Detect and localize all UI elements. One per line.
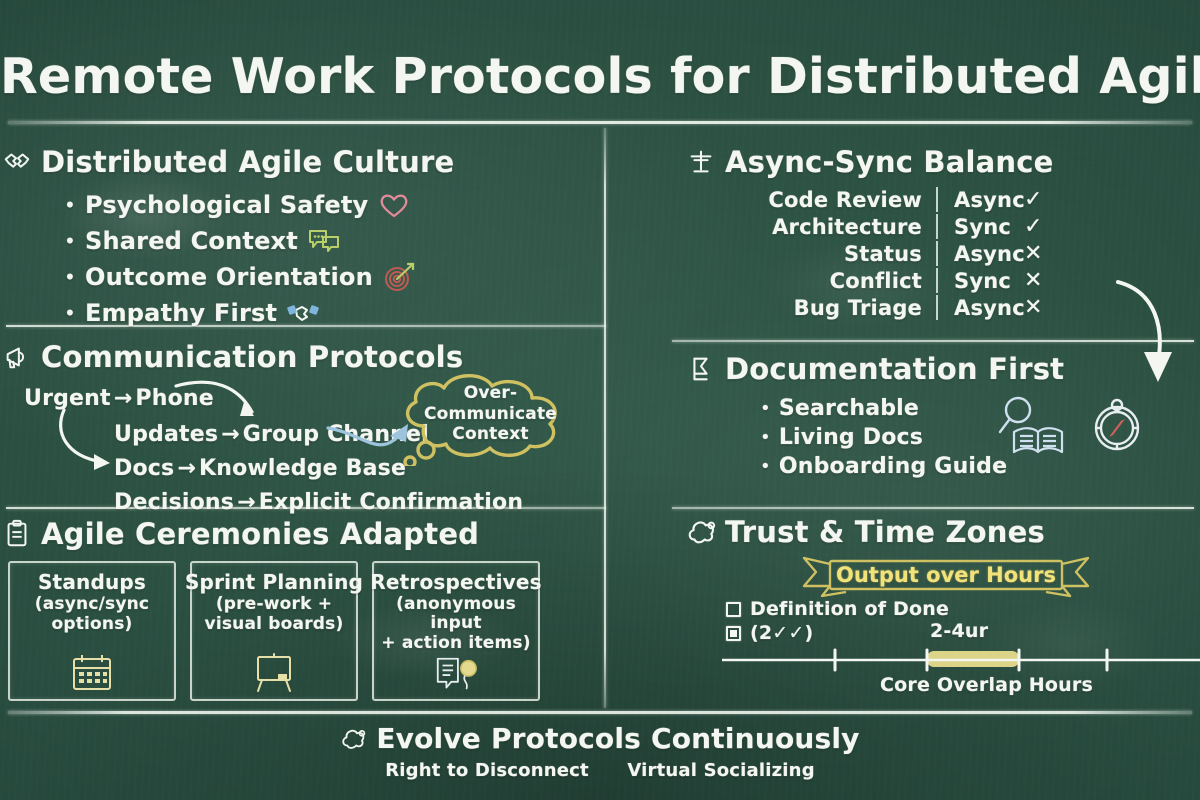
divider-vertical <box>604 128 606 708</box>
bullet-dot: • <box>64 231 76 251</box>
checklist-label: Definition of Done <box>750 598 949 620</box>
row-mode: Sync <box>938 269 1024 293</box>
curved-arrow-icon <box>52 406 132 478</box>
cloud-line-1: Over-Communicate <box>398 383 583 424</box>
documentation-icon-group <box>996 392 1148 458</box>
row-task: Code Review <box>686 188 936 212</box>
bullet-dot: • <box>760 427 771 448</box>
balance-scale-icon <box>686 147 716 177</box>
list-item: • Onboarding Guide <box>760 454 1007 479</box>
row-mode: Async <box>938 296 1024 320</box>
list-item-label: Onboarding Guide <box>779 454 1007 479</box>
magnifier-book-icon <box>996 392 1072 458</box>
footer-title: Evolve Protocols Continuously <box>376 722 859 755</box>
card-title: Sprint Planning <box>185 572 363 594</box>
list-item-label: Shared Context <box>85 227 298 255</box>
document-fold-icon <box>686 354 716 384</box>
whiteboard-easel-icon <box>250 651 298 693</box>
row-task: Status <box>686 242 936 266</box>
page-title: Remote Work Protocols for Distributed Ag… <box>0 48 1200 105</box>
arrow-glyph: → <box>174 456 199 481</box>
target-icon <box>382 262 416 292</box>
footer-item: Virtual Socializing <box>627 760 814 781</box>
thought-cloud-text: Over-Communicate Context <box>398 383 583 445</box>
row-task: Conflict <box>686 269 936 293</box>
list-item-label: Psychological Safety <box>85 191 368 219</box>
divider-right-lower <box>672 507 1194 509</box>
section-documentation-first: Documentation First <box>686 352 1064 386</box>
footer-headline: Evolve Protocols Continuously <box>0 722 1200 755</box>
list-item: • Searchable <box>760 396 1007 421</box>
table-row: Bug Triage Async ✕ <box>686 294 1146 321</box>
divider-footer <box>8 711 1192 714</box>
row-mode: Async <box>938 242 1024 266</box>
row-task: Architecture <box>686 215 936 239</box>
row-task: Bug Triage <box>686 296 936 320</box>
cloud-icon <box>686 517 716 547</box>
card-title: Retrospectives <box>370 572 542 594</box>
row-mark: ✓ <box>1024 187 1043 212</box>
card-subtitle-line-2: visual boards) <box>205 615 344 634</box>
card-subtitle-line-1: (async/sync <box>35 595 149 614</box>
divider-title <box>8 121 1192 124</box>
curved-arrow-down-icon <box>1108 276 1188 396</box>
row-mode: Sync <box>938 215 1024 239</box>
row-mark: ✕ <box>1024 295 1043 320</box>
arrow-glyph: → <box>234 490 259 515</box>
checkbox-checked[interactable] <box>726 626 741 641</box>
section-async-sync-balance: Async-Sync Balance <box>686 145 1054 179</box>
ceremony-card-sprint-planning[interactable]: Sprint Planning (pre-work + visual board… <box>190 561 358 701</box>
bullet-dot: • <box>64 195 76 215</box>
card-title: Standups <box>38 572 146 594</box>
checklist-item[interactable]: Definition of Done <box>726 598 949 620</box>
card-subtitle-line-2: + action items) <box>381 634 530 653</box>
ceremony-card-retrospectives[interactable]: Retrospectives (anonymous input + action… <box>372 561 540 701</box>
section-heading: Agile Ceremonies Adapted <box>41 517 479 551</box>
mapping-to: Explicit Confirmation <box>259 490 524 515</box>
section-heading: Async-Sync Balance <box>725 145 1054 179</box>
list-item-label: Outcome Orientation <box>85 263 373 291</box>
speech-bubbles-icon <box>307 226 341 256</box>
cloud-line-2: Context <box>398 424 583 445</box>
timeline-caption: Core Overlap Hours <box>880 674 1093 696</box>
calendar-icon <box>68 651 116 693</box>
async-sync-table: Code Review Async ✓ Architecture Sync ✓ … <box>686 186 1146 321</box>
heart-icon <box>377 190 411 220</box>
bullet-dot: • <box>64 303 76 323</box>
bullet-dot: • <box>64 267 76 287</box>
handshake-icon <box>2 147 32 177</box>
core-overlap-timeline <box>722 648 1200 672</box>
row-mark: ✓ <box>1024 214 1043 239</box>
list-item-label: Searchable <box>779 396 919 421</box>
list-item-label: Living Docs <box>779 425 923 450</box>
banner-text: Output over Hours <box>826 563 1066 587</box>
mapping-from: Decisions <box>114 490 234 515</box>
checklist-label: (2✓✓) <box>750 622 813 644</box>
card-subtitle-line-2: options) <box>51 615 132 634</box>
section-agile-ceremonies: Agile Ceremonies Adapted <box>2 517 479 551</box>
checkbox-unchecked[interactable] <box>726 602 741 617</box>
list-item-label: Empathy First <box>85 299 277 327</box>
list-item: • Living Docs <box>760 425 1007 450</box>
documentation-bullet-list: • Searchable • Living Docs • Onboarding … <box>760 396 1007 483</box>
section-heading: Trust & Time Zones <box>725 515 1045 549</box>
handshake-icon <box>286 298 320 328</box>
row-mark: ✕ <box>1024 241 1043 266</box>
table-row: Code Review Async ✓ <box>686 186 1146 213</box>
footer-item: Right to Disconnect <box>385 760 589 781</box>
section-heading: Distributed Agile Culture <box>41 145 454 179</box>
list-item: • Psychological Safety <box>64 190 454 220</box>
curved-arrow-icon <box>172 372 282 432</box>
section-trust-time-zones: Trust & Time Zones <box>686 515 1045 549</box>
footer-items: Right to Disconnect Virtual Socializing <box>0 760 1200 781</box>
card-subtitle-line-1: (pre-work + <box>216 595 332 614</box>
table-row: Architecture Sync ✓ <box>686 213 1146 240</box>
table-row: Conflict Sync ✕ <box>686 267 1146 294</box>
megaphone-icon <box>2 342 32 372</box>
section-heading: Documentation First <box>725 352 1064 386</box>
bullet-dot: • <box>760 398 771 419</box>
timeline-band-label: 2-4ur <box>930 620 988 642</box>
list-item: • Shared Context <box>64 226 454 256</box>
cloud-icon <box>340 726 366 752</box>
culture-bullet-list: • Psychological Safety • Shared Context … <box>2 190 454 328</box>
card-subtitle-line-1: (anonymous input <box>380 595 532 633</box>
ceremony-card-standups[interactable]: Standups (async/sync options) <box>8 561 176 701</box>
list-item: • Outcome Orientation <box>64 262 454 292</box>
sticky-notes-icon <box>432 653 480 693</box>
clipboard-icon <box>2 519 32 549</box>
table-row: Status Async ✕ <box>686 240 1146 267</box>
section-distributed-agile-culture: Distributed Agile Culture • Psychologica… <box>2 145 454 334</box>
list-item: • Empathy First <box>64 298 454 328</box>
row-mode: Async <box>938 188 1024 212</box>
trust-checklist: Definition of Done (2✓✓) <box>726 598 949 646</box>
compass-icon <box>1086 394 1148 456</box>
bullet-dot: • <box>760 456 771 477</box>
mapping-row: Decisions→Explicit Confirmation <box>114 490 523 515</box>
ceremony-card-list: Standups (async/sync options) Sprint Pla… <box>8 561 540 701</box>
checklist-item[interactable]: (2✓✓) <box>726 622 949 644</box>
row-mark: ✕ <box>1024 268 1043 293</box>
